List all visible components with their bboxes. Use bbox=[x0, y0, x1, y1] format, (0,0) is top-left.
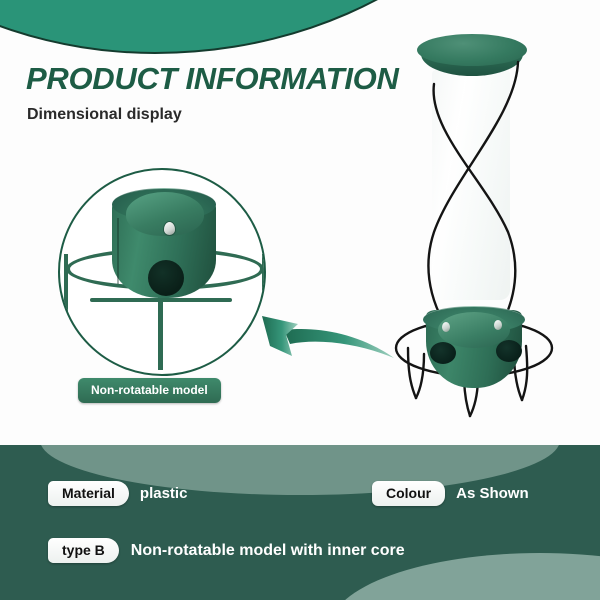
bowl-port-hole-left bbox=[430, 342, 456, 364]
page-subtitle: Dimensional display bbox=[27, 106, 182, 124]
bowl-screw-left-icon bbox=[442, 322, 450, 332]
feeder-seam-line bbox=[117, 218, 119, 284]
spec-label-colour: Colour bbox=[372, 481, 445, 506]
page-title: PRODUCT INFORMATION bbox=[26, 61, 399, 97]
product-illustration bbox=[390, 26, 590, 426]
spec-label-type: type B bbox=[48, 538, 119, 563]
spec-value-material: plastic bbox=[140, 485, 188, 502]
spec-panel bbox=[0, 445, 600, 600]
feeder-screw-icon bbox=[164, 222, 175, 235]
bowl-screw-right-icon bbox=[494, 320, 502, 330]
magnified-circle-icon bbox=[58, 168, 266, 376]
spec-value-type: Non-rotatable model with inner core bbox=[131, 542, 405, 560]
spec-label-material: Material bbox=[48, 481, 129, 506]
spec-row-colour: Colour As Shown bbox=[372, 481, 529, 506]
spec-row-material: Material plastic bbox=[48, 481, 187, 506]
feeder-port-hole bbox=[148, 260, 184, 296]
product-information-graphic: PRODUCT INFORMATION Dimensional display … bbox=[0, 0, 600, 600]
spec-value-colour: As Shown bbox=[456, 485, 529, 502]
bowl-port-hole-right bbox=[496, 340, 522, 362]
magnifier-content bbox=[60, 170, 264, 374]
non-rotatable-badge: Non-rotatable model bbox=[78, 378, 221, 403]
curved-arrow-icon bbox=[256, 304, 396, 378]
curved-arrow-svg bbox=[256, 304, 396, 378]
spec-row-type: type B Non-rotatable model with inner co… bbox=[48, 538, 405, 563]
